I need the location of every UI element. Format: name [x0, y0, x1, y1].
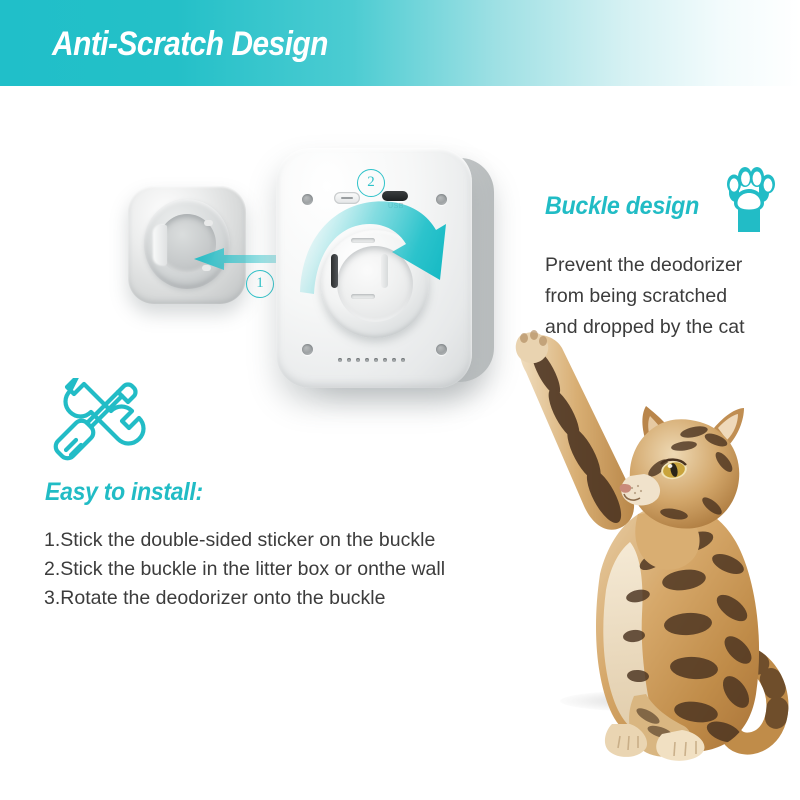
install-steps-list: 1.Stick the double-sided sticker on the … — [44, 526, 445, 613]
vent-hole — [401, 358, 405, 362]
vent-hole — [374, 358, 378, 362]
buckle-ring-outer — [144, 199, 230, 289]
vent-hole — [392, 358, 396, 362]
paw-icon — [712, 162, 786, 234]
cat-photo — [488, 328, 800, 778]
install-step: 1.Stick the double-sided sticker on the … — [44, 526, 445, 555]
screw-hole-bottom-left — [302, 344, 313, 355]
install-step: 3.Rotate the deodorizer onto the buckle — [44, 584, 445, 613]
vent-hole — [338, 358, 342, 362]
vent-hole — [365, 358, 369, 362]
buckle-notch-left — [154, 225, 167, 265]
vent-hole — [347, 358, 351, 362]
step-marker-two: 2 — [357, 169, 385, 197]
tools-icon — [44, 378, 148, 474]
install-heading: Easy to install: — [45, 478, 203, 507]
page-title: Anti-Scratch Design — [52, 25, 328, 64]
install-step: 2.Stick the buckle in the litter box or … — [44, 555, 445, 584]
buckle-design-line: Prevent the deodorizer — [545, 250, 800, 281]
buckle-design-line: from being scratched — [545, 281, 800, 312]
vent-hole — [383, 358, 387, 362]
arrow-two-rotation-icon — [296, 188, 460, 326]
buckle-notch-top-right — [204, 220, 213, 226]
vent-hole — [356, 358, 360, 362]
step-marker-one: 1 — [246, 270, 274, 298]
buckle-design-heading: Buckle design — [545, 192, 699, 221]
screw-hole-bottom-right — [436, 344, 447, 355]
vent-hole-row — [338, 358, 405, 362]
